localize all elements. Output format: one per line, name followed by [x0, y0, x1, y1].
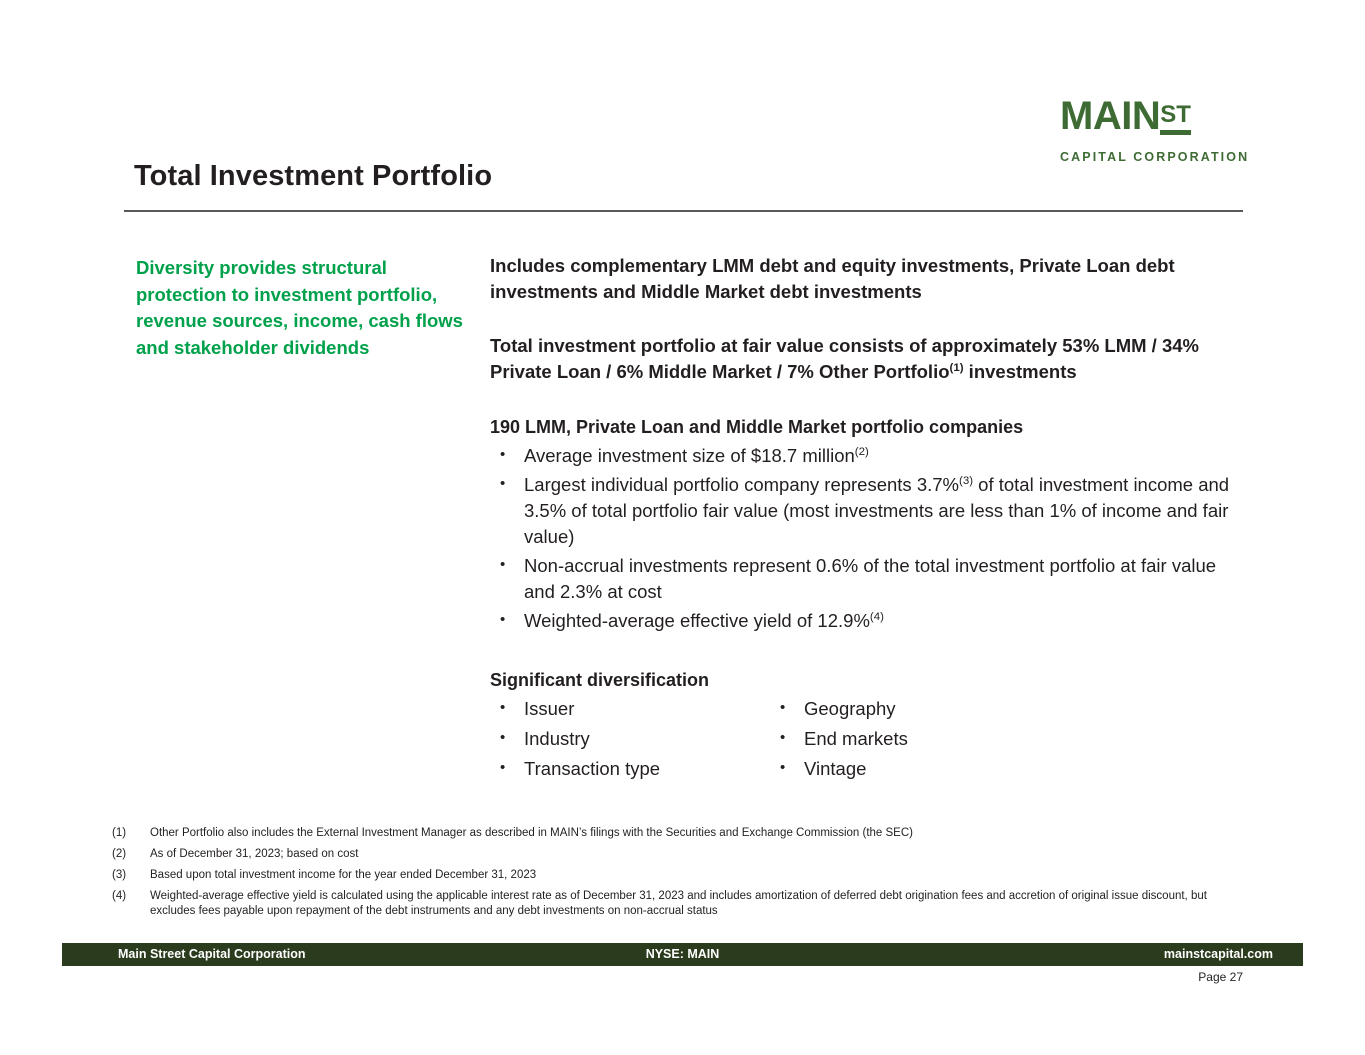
diversification-list-left: Issuer Industry Transaction type	[490, 696, 770, 786]
footnote-text: Based upon total investment income for t…	[150, 868, 1252, 883]
footnote-text: Other Portfolio also includes the Extern…	[150, 826, 1252, 841]
footnote-number: (1)	[112, 826, 150, 841]
paragraph-allocation-text: Total investment portfolio at fair value…	[490, 335, 1199, 382]
list-item: End markets	[770, 726, 1050, 752]
bullet-text: Weighted-average effective yield of 12.9…	[524, 610, 870, 631]
footnote-ref-3: (3)	[959, 475, 973, 487]
page-number: Page 27	[1198, 970, 1243, 984]
list-item: Weighted-average effective yield of 12.9…	[490, 608, 1230, 634]
main-content: Includes complementary LMM debt and equi…	[490, 253, 1230, 786]
list-item: Industry	[490, 726, 770, 752]
bullet-text: Average investment size of $18.7 million	[524, 445, 855, 466]
paragraph-includes: Includes complementary LMM debt and equi…	[490, 253, 1230, 305]
logo-wordmark: MAINST	[1060, 96, 1230, 142]
bullet-text: Non-accrual investments represent 0.6% o…	[524, 555, 1216, 602]
page-title: Total Investment Portfolio	[134, 160, 492, 193]
footnotes-section: (1) Other Portfolio also includes the Ex…	[112, 826, 1252, 925]
list-item: Non-accrual investments represent 0.6% o…	[490, 553, 1230, 605]
diversification-section: Significant diversification Issuer Indus…	[490, 668, 1230, 786]
footnote-4: (4) Weighted-average effective yield is …	[112, 889, 1252, 918]
portfolio-companies-heading: 190 LMM, Private Loan and Middle Market …	[490, 415, 1230, 439]
paragraph-allocation-tail: investments	[964, 361, 1077, 382]
footer-website[interactable]: mainstcapital.com	[1164, 947, 1273, 961]
list-item: Issuer	[490, 696, 770, 722]
footnote-ref-4: (4)	[870, 611, 884, 623]
footer-ticker: NYSE: MAIN	[62, 947, 1303, 961]
logo-st-text: ST	[1160, 101, 1191, 135]
footnote-text: Weighted-average effective yield is calc…	[150, 889, 1252, 918]
list-item: Transaction type	[490, 756, 770, 782]
diversification-heading: Significant diversification	[490, 668, 1230, 692]
company-logo: MAINST CAPITAL CORPORATION	[1060, 96, 1230, 148]
portfolio-stats-list: Average investment size of $18.7 million…	[490, 443, 1230, 634]
footnote-number: (3)	[112, 868, 150, 883]
footnote-2: (2) As of December 31, 2023; based on co…	[112, 847, 1252, 862]
footnote-ref-1: (1)	[950, 362, 964, 374]
footer-bar: Main Street Capital Corporation NYSE: MA…	[62, 943, 1303, 966]
logo-main-text: MAIN	[1060, 94, 1160, 138]
title-divider	[124, 210, 1243, 212]
list-item: Vintage	[770, 756, 1050, 782]
logo-subtitle: CAPITAL CORPORATION	[1060, 150, 1230, 164]
diversification-columns: Issuer Industry Transaction type Geograp…	[490, 696, 1230, 786]
footnote-number: (2)	[112, 847, 150, 862]
footnote-ref-2: (2)	[855, 446, 869, 458]
list-item: Average investment size of $18.7 million…	[490, 443, 1230, 469]
diversification-list-right: Geography End markets Vintage	[770, 696, 1050, 786]
list-item: Geography	[770, 696, 1050, 722]
diversity-callout-text: Diversity provides structural protection…	[136, 255, 466, 361]
footnote-text: As of December 31, 2023; based on cost	[150, 847, 1252, 862]
list-item: Largest individual portfolio company rep…	[490, 472, 1230, 550]
footnote-1: (1) Other Portfolio also includes the Ex…	[112, 826, 1252, 841]
footnote-3: (3) Based upon total investment income f…	[112, 868, 1252, 883]
paragraph-allocation: Total investment portfolio at fair value…	[490, 333, 1230, 385]
bullet-text: Largest individual portfolio company rep…	[524, 474, 959, 495]
footnote-number: (4)	[112, 889, 150, 918]
